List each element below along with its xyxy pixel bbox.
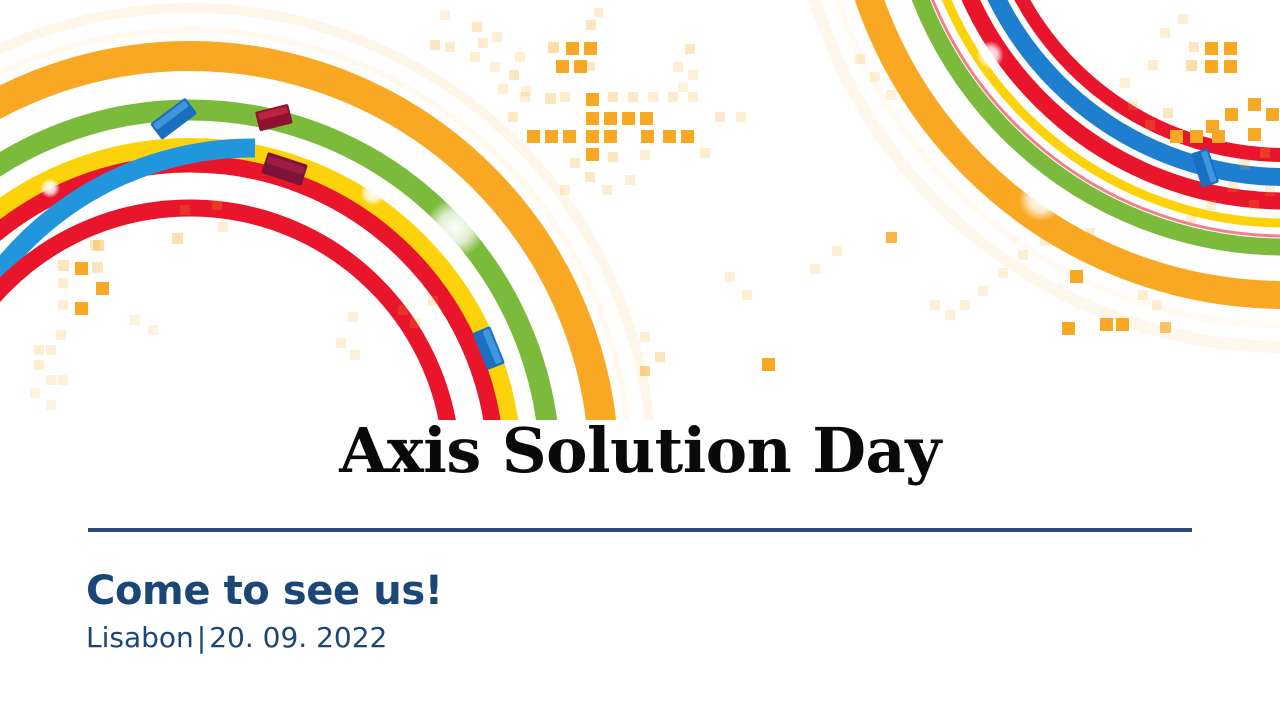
pixel-square-field: [30, 8, 1279, 410]
right-yellow-arc: [917, 0, 1280, 223]
left-inner-red-arc: [0, 208, 452, 420]
left-flare-small: [360, 180, 386, 206]
cta-separator: |: [194, 621, 209, 654]
left-blue-arc: [0, 148, 255, 392]
right-blue-arc: [963, 0, 1280, 177]
cta-location: Lisabon: [86, 621, 194, 654]
cta-date: 20. 09. 2022: [209, 621, 387, 654]
cta-headline: Come to see us!: [86, 570, 443, 613]
left-orange-arc: [0, 56, 604, 420]
footer-row: Come to see us! Lisabon|20. 09. 2022: [0, 570, 1280, 680]
right-thin-red-arc: [904, 0, 1280, 236]
left-arc-group: [0, 8, 652, 420]
left-vehicle-darkred-a: [255, 104, 293, 132]
right-green-arc: [893, 0, 1280, 247]
left-flare-tiny: [40, 178, 60, 198]
title-block: Axis Solution Day: [0, 418, 1280, 483]
left-flare-large: [425, 198, 485, 258]
right-vehicle-blue: [1191, 148, 1219, 188]
right-red-arc: [939, 0, 1280, 201]
right-inner-red-arc: [985, 0, 1280, 155]
left-yellow-arc: [0, 148, 512, 420]
left-red-arc: [0, 164, 496, 420]
right-flare-a: [976, 41, 1004, 69]
right-flare-b: [1019, 177, 1063, 221]
cta-block: Come to see us! Lisabon|20. 09. 2022: [86, 570, 443, 655]
right-orange-arc: [845, 0, 1280, 295]
cta-subline: Lisabon|20. 09. 2022: [86, 621, 443, 655]
left-vehicle-blue-lower: [472, 326, 505, 370]
left-vehicle-blue: [150, 98, 197, 140]
page-title: Axis Solution Day: [0, 418, 1280, 483]
header-graphic: [0, 0, 1280, 420]
left-vehicle-darkred-b: [261, 152, 308, 186]
horizontal-divider: [88, 528, 1192, 532]
right-arc-group: [793, 0, 1280, 347]
left-green-arc: [0, 110, 550, 420]
slide-root: Axis Solution Day Come to see us! Lisabo…: [0, 0, 1280, 720]
